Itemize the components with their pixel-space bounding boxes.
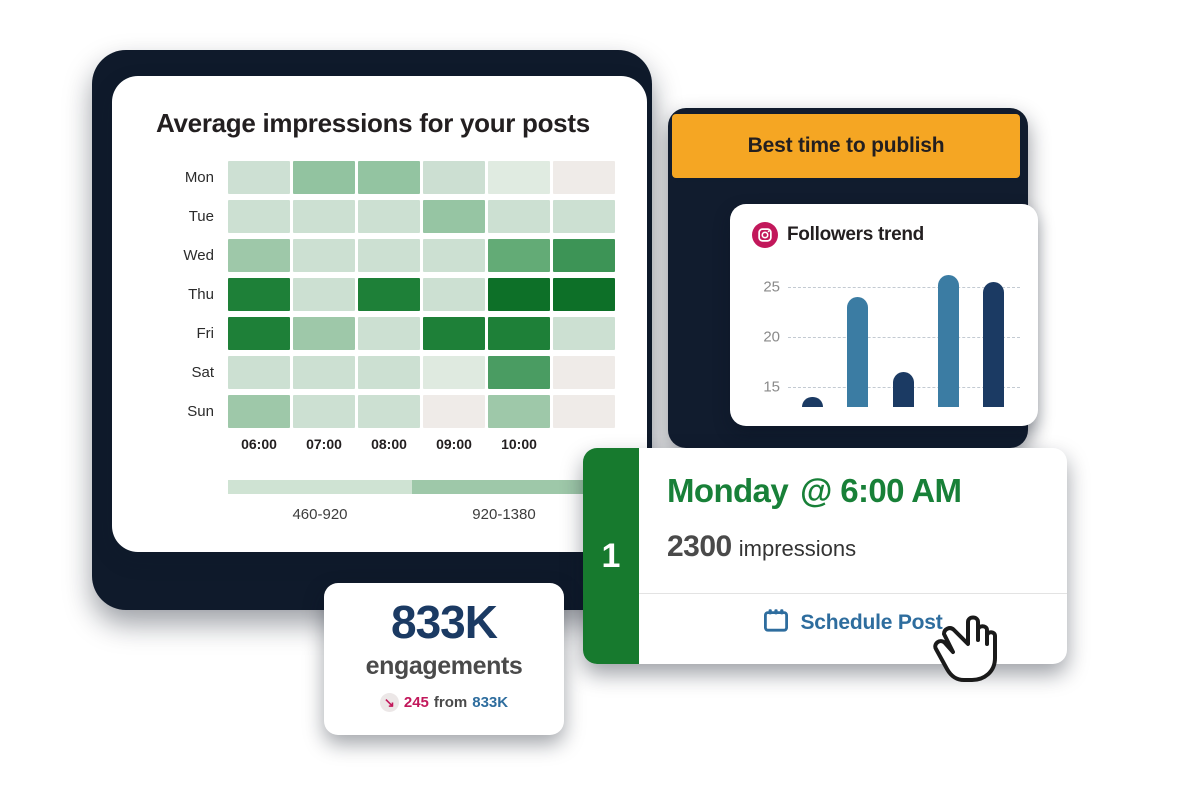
heatmap-cell[interactable] — [358, 356, 420, 389]
heatmap-cell[interactable] — [553, 239, 615, 272]
heatmap-cell[interactable] — [553, 200, 615, 233]
followers-bars — [790, 262, 1016, 407]
heatmap-x-tick: 10:00 — [488, 436, 550, 452]
followers-trend-card: Followers trend 152025 — [730, 204, 1038, 426]
followers-bar-slot — [880, 262, 925, 407]
followers-bar[interactable] — [983, 282, 1004, 407]
heatmap-cell[interactable] — [228, 161, 290, 194]
followers-bar-slot — [926, 262, 971, 407]
heatmap-cell[interactable] — [553, 161, 615, 194]
heatmap-row-label: Sun — [156, 403, 228, 420]
followers-bar-slot — [790, 262, 835, 407]
heatmap-cell[interactable] — [358, 395, 420, 428]
engagements-label: engagements — [324, 654, 564, 679]
heatmap-cell[interactable] — [293, 200, 355, 233]
heatmap-row: Sun — [156, 392, 615, 431]
best-time-result-card: 1 Monday@ 6:00 AM 2300impressions Sch — [583, 448, 1067, 664]
best-time-clock: @ 6:00 AM — [800, 472, 961, 509]
heatmap-cell[interactable] — [553, 356, 615, 389]
impressions-value: 2300 — [667, 530, 732, 563]
heatmap-cell[interactable] — [553, 278, 615, 311]
heatmap-cell[interactable] — [423, 395, 485, 428]
heatmap-cell[interactable] — [488, 200, 550, 233]
arrow-down-right-icon: ↘ — [380, 693, 399, 712]
heatmap-row-label: Sat — [156, 364, 228, 381]
engagements-card: 833K engagements ↘ 245 from 833K — [324, 583, 564, 735]
followers-bar[interactable] — [938, 275, 959, 407]
heatmap-cell[interactable] — [228, 278, 290, 311]
heatmap-row: Wed — [156, 236, 615, 275]
followers-y-axis: 152025 — [750, 262, 784, 407]
card-divider — [639, 593, 1067, 594]
heatmap-cell[interactable] — [358, 200, 420, 233]
heatmap-legend-label: 460-920 — [228, 506, 412, 523]
heatmap-cell[interactable] — [423, 278, 485, 311]
followers-bar[interactable] — [893, 372, 914, 407]
followers-y-tick-label: 20 — [763, 329, 780, 346]
heatmap-title: Average impressions for your posts — [156, 108, 590, 139]
followers-trend-chart: 152025 — [750, 262, 1020, 407]
heatmap-grid: MonTueWedThuFriSatSun — [156, 158, 615, 431]
heatmap-cell[interactable] — [358, 278, 420, 311]
heatmap-row: Tue — [156, 197, 615, 236]
heatmap-row: Mon — [156, 158, 615, 197]
heatmap-x-tick: 07:00 — [293, 436, 355, 452]
engagements-delta: ↘ 245 from 833K — [324, 693, 564, 712]
heatmap-cell[interactable] — [228, 317, 290, 350]
dashboard-illustration: Average impressions for your posts MonTu… — [0, 0, 1200, 800]
heatmap-cell[interactable] — [228, 356, 290, 389]
followers-bar-slot — [835, 262, 880, 407]
delta-value: 245 — [404, 694, 429, 711]
heatmap-cell[interactable] — [358, 317, 420, 350]
heatmap-cell[interactable] — [293, 395, 355, 428]
heatmap-cell[interactable] — [293, 356, 355, 389]
heatmap-legend: 460-920920-1380 — [228, 480, 596, 523]
heatmap-legend-label: 920-1380 — [412, 506, 596, 523]
heatmap-row-label: Fri — [156, 325, 228, 342]
heatmap-row-label: Mon — [156, 169, 228, 186]
heatmap-cell[interactable] — [553, 317, 615, 350]
engagements-value: 833K — [324, 599, 564, 645]
heatmap-cell[interactable] — [293, 317, 355, 350]
heatmap-row: Sat — [156, 353, 615, 392]
followers-bar[interactable] — [802, 397, 823, 407]
best-time-headline: Monday@ 6:00 AM — [667, 472, 961, 510]
heatmap-x-tick: 06:00 — [228, 436, 290, 452]
delta-connector: from — [434, 694, 467, 711]
heatmap-legend-segment — [412, 480, 596, 494]
heatmap-cell[interactable] — [358, 239, 420, 272]
heatmap-cell[interactable] — [423, 161, 485, 194]
heatmap-legend-labels: 460-920920-1380 — [228, 506, 596, 523]
followers-bar-slot — [971, 262, 1016, 407]
heatmap-cell[interactable] — [423, 200, 485, 233]
heatmap-x-axis: 06:0007:0008:0009:0010:00 — [156, 436, 615, 452]
schedule-post-button[interactable]: Schedule Post — [639, 608, 1067, 638]
heatmap-cell[interactable] — [553, 395, 615, 428]
heatmap-cell[interactable] — [423, 317, 485, 350]
followers-bar[interactable] — [847, 297, 868, 407]
best-time-to-publish-banner[interactable]: Best time to publish — [672, 114, 1020, 178]
heatmap-x-tick: 08:00 — [358, 436, 420, 452]
followers-trend-title: Followers trend — [787, 224, 924, 246]
heatmap-cell[interactable] — [293, 161, 355, 194]
heatmap-row-label: Wed — [156, 247, 228, 264]
heatmap-legend-bar — [228, 480, 596, 494]
heatmap-card: Average impressions for your posts MonTu… — [112, 76, 647, 552]
heatmap-x-tick: 09:00 — [423, 436, 485, 452]
heatmap-cell[interactable] — [488, 356, 550, 389]
heatmap-cell[interactable] — [423, 239, 485, 272]
heatmap-cell[interactable] — [293, 278, 355, 311]
followers-y-tick-label: 15 — [763, 379, 780, 396]
heatmap-row-label: Tue — [156, 208, 228, 225]
heatmap-cell[interactable] — [228, 239, 290, 272]
best-time-label: Best time to publish — [748, 134, 945, 158]
followers-trend-header: Followers trend — [752, 222, 924, 248]
schedule-post-label: Schedule Post — [800, 611, 942, 635]
heatmap-cell[interactable] — [228, 200, 290, 233]
rank-badge: 1 — [583, 448, 639, 664]
delta-base-value: 833K — [472, 694, 508, 711]
heatmap-cell[interactable] — [423, 356, 485, 389]
best-time-day: Monday — [667, 472, 788, 509]
result-card-body: Monday@ 6:00 AM 2300impressions Schedule… — [639, 448, 1067, 664]
heatmap-cell[interactable] — [228, 395, 290, 428]
heatmap-row: Thu — [156, 275, 615, 314]
impressions-metric: 2300impressions — [667, 530, 856, 564]
followers-y-tick-label: 25 — [763, 279, 780, 296]
heatmap-legend-segment — [228, 480, 412, 494]
heatmap-row-label: Thu — [156, 286, 228, 303]
heatmap-cell[interactable] — [488, 317, 550, 350]
heatmap-cell[interactable] — [358, 161, 420, 194]
heatmap-cell[interactable] — [488, 278, 550, 311]
heatmap-cell[interactable] — [488, 239, 550, 272]
heatmap-row: Fri — [156, 314, 615, 353]
calendar-icon — [763, 608, 789, 638]
impressions-label: impressions — [739, 536, 856, 561]
heatmap-cell[interactable] — [488, 395, 550, 428]
heatmap-cell[interactable] — [293, 239, 355, 272]
instagram-icon — [752, 222, 778, 248]
heatmap-cell[interactable] — [488, 161, 550, 194]
